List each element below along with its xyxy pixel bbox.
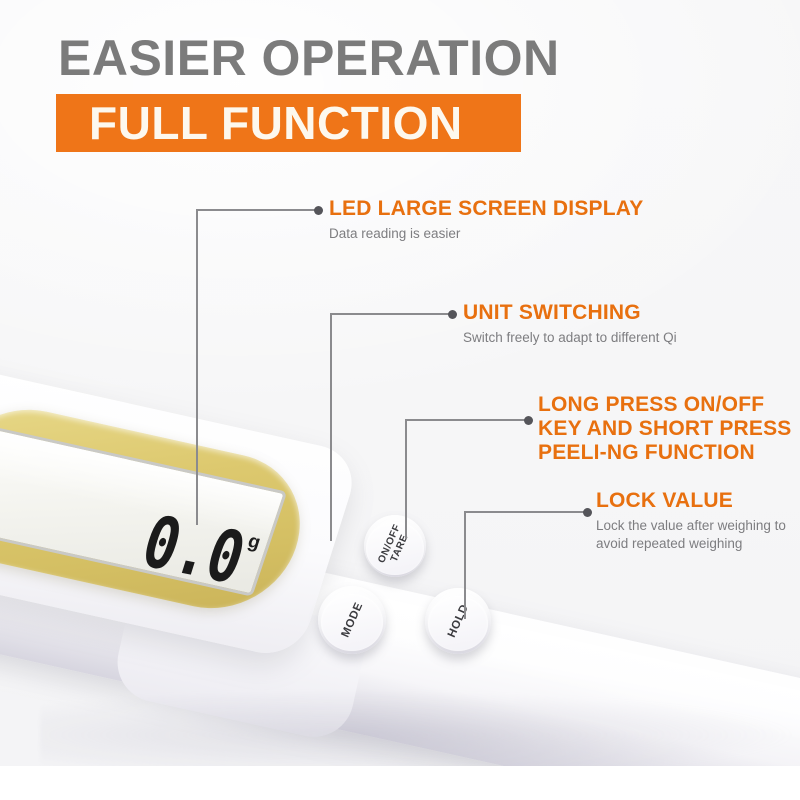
callout-led-display-desc: Data reading is easier	[329, 225, 643, 243]
callout-unit-switching-desc: Switch freely to adapt to different Qi	[463, 329, 677, 347]
callout-lock-value-title: LOCK VALUE	[596, 489, 800, 513]
page-subtitle-bar: FULL FUNCTION	[56, 94, 521, 152]
onoff-tare-button[interactable]: ON/OFF TARE	[364, 515, 426, 577]
callout-lock-value-desc: Lock the value after weighing to avoid r…	[596, 517, 800, 553]
callout-unit-switching: UNIT SWITCHING Switch freely to adapt to…	[463, 301, 677, 347]
weight-unit: g	[246, 532, 263, 553]
callout-unit-switching-title: UNIT SWITCHING	[463, 301, 677, 325]
callout-lock-value: LOCK VALUE Lock the value after weighing…	[596, 489, 800, 553]
page-title: EASIER OPERATION	[58, 31, 560, 85]
weight-value: 0.0	[136, 508, 252, 592]
callout-onoff-tare-title: LONG PRESS ON/OFF KEY AND SHORT PRESS PE…	[538, 393, 793, 465]
bottom-margin	[0, 766, 800, 800]
mode-button[interactable]: MODE	[318, 586, 386, 654]
infographic-canvas: 0.0 g MODE ON/OFF TARE HOLD EASIER OPERA…	[0, 0, 800, 800]
lcd-readout: 0.0 g	[109, 502, 265, 595]
callout-led-display: LED LARGE SCREEN DISPLAY Data reading is…	[329, 197, 643, 243]
callout-onoff-tare: LONG PRESS ON/OFF KEY AND SHORT PRESS PE…	[538, 393, 793, 465]
callout-led-display-title: LED LARGE SCREEN DISPLAY	[329, 197, 643, 221]
hold-button[interactable]: HOLD	[425, 588, 491, 654]
product-photo-plate: 0.0 g MODE ON/OFF TARE HOLD EASIER OPERA…	[0, 0, 800, 766]
page-subtitle: FULL FUNCTION	[89, 99, 463, 147]
